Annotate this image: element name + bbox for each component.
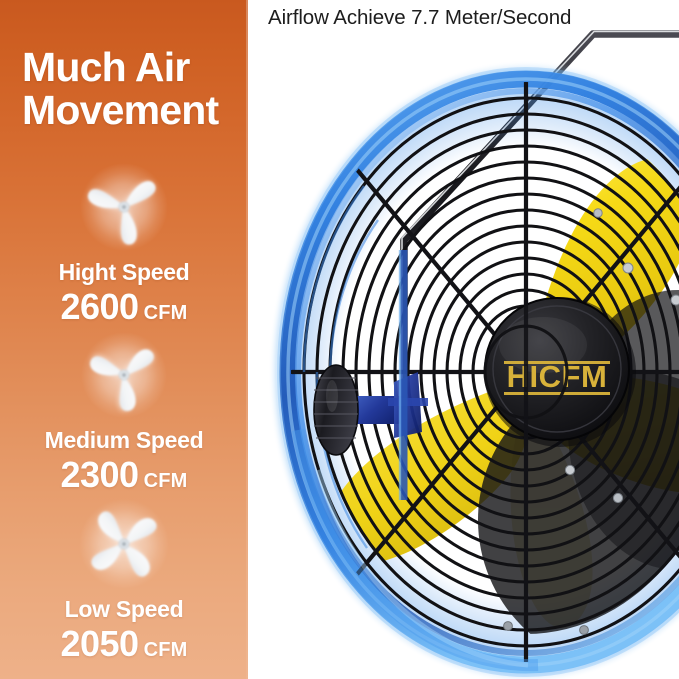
speed-value-low: 2050CFM [0, 623, 248, 665]
speed-number-medium: 2300 [60, 454, 138, 495]
speed-unit-low: CFM [144, 639, 188, 661]
speed-label-low: Low Speed [0, 597, 248, 622]
page-title: Much Air Movement [22, 46, 248, 133]
speed-spec-high: Hight Speed 2600CFM [0, 160, 248, 328]
fan-hub: HICFM [484, 297, 636, 447]
speed-number-low: 2050 [60, 623, 138, 664]
speed-spec-medium: Medium Speed 2300CFM [0, 328, 248, 496]
headline-line-1: Much Air [22, 44, 189, 90]
speed-label-high: Hight Speed [0, 260, 248, 285]
speed-label-medium: Medium Speed [0, 428, 248, 453]
speed-unit-medium: CFM [144, 470, 188, 492]
speed-number-high: 2600 [60, 286, 138, 327]
speed-value-medium: 2300CFM [0, 454, 248, 496]
spinning-fan-blade-icon [70, 497, 178, 593]
product-photo-area: Airflow Achieve 7.7 Meter/Second [248, 0, 679, 679]
headline-line-2: Movement [22, 89, 248, 132]
spinning-fan-blade-icon [70, 160, 178, 256]
speed-value-high: 2600CFM [0, 286, 248, 328]
product-marketing-image: Much Air Movement [0, 0, 679, 679]
spinning-fan-blade-icon [70, 328, 178, 424]
specs-panel: Much Air Movement [0, 0, 248, 679]
speed-unit-high: CFM [144, 302, 188, 324]
brand-logo-text: HICFM [507, 359, 608, 394]
wall-mount-fan-image: HICFM [248, 0, 679, 679]
speed-spec-low: Low Speed 2050CFM [0, 497, 248, 665]
tilt-adjust-knob[interactable] [314, 365, 358, 455]
